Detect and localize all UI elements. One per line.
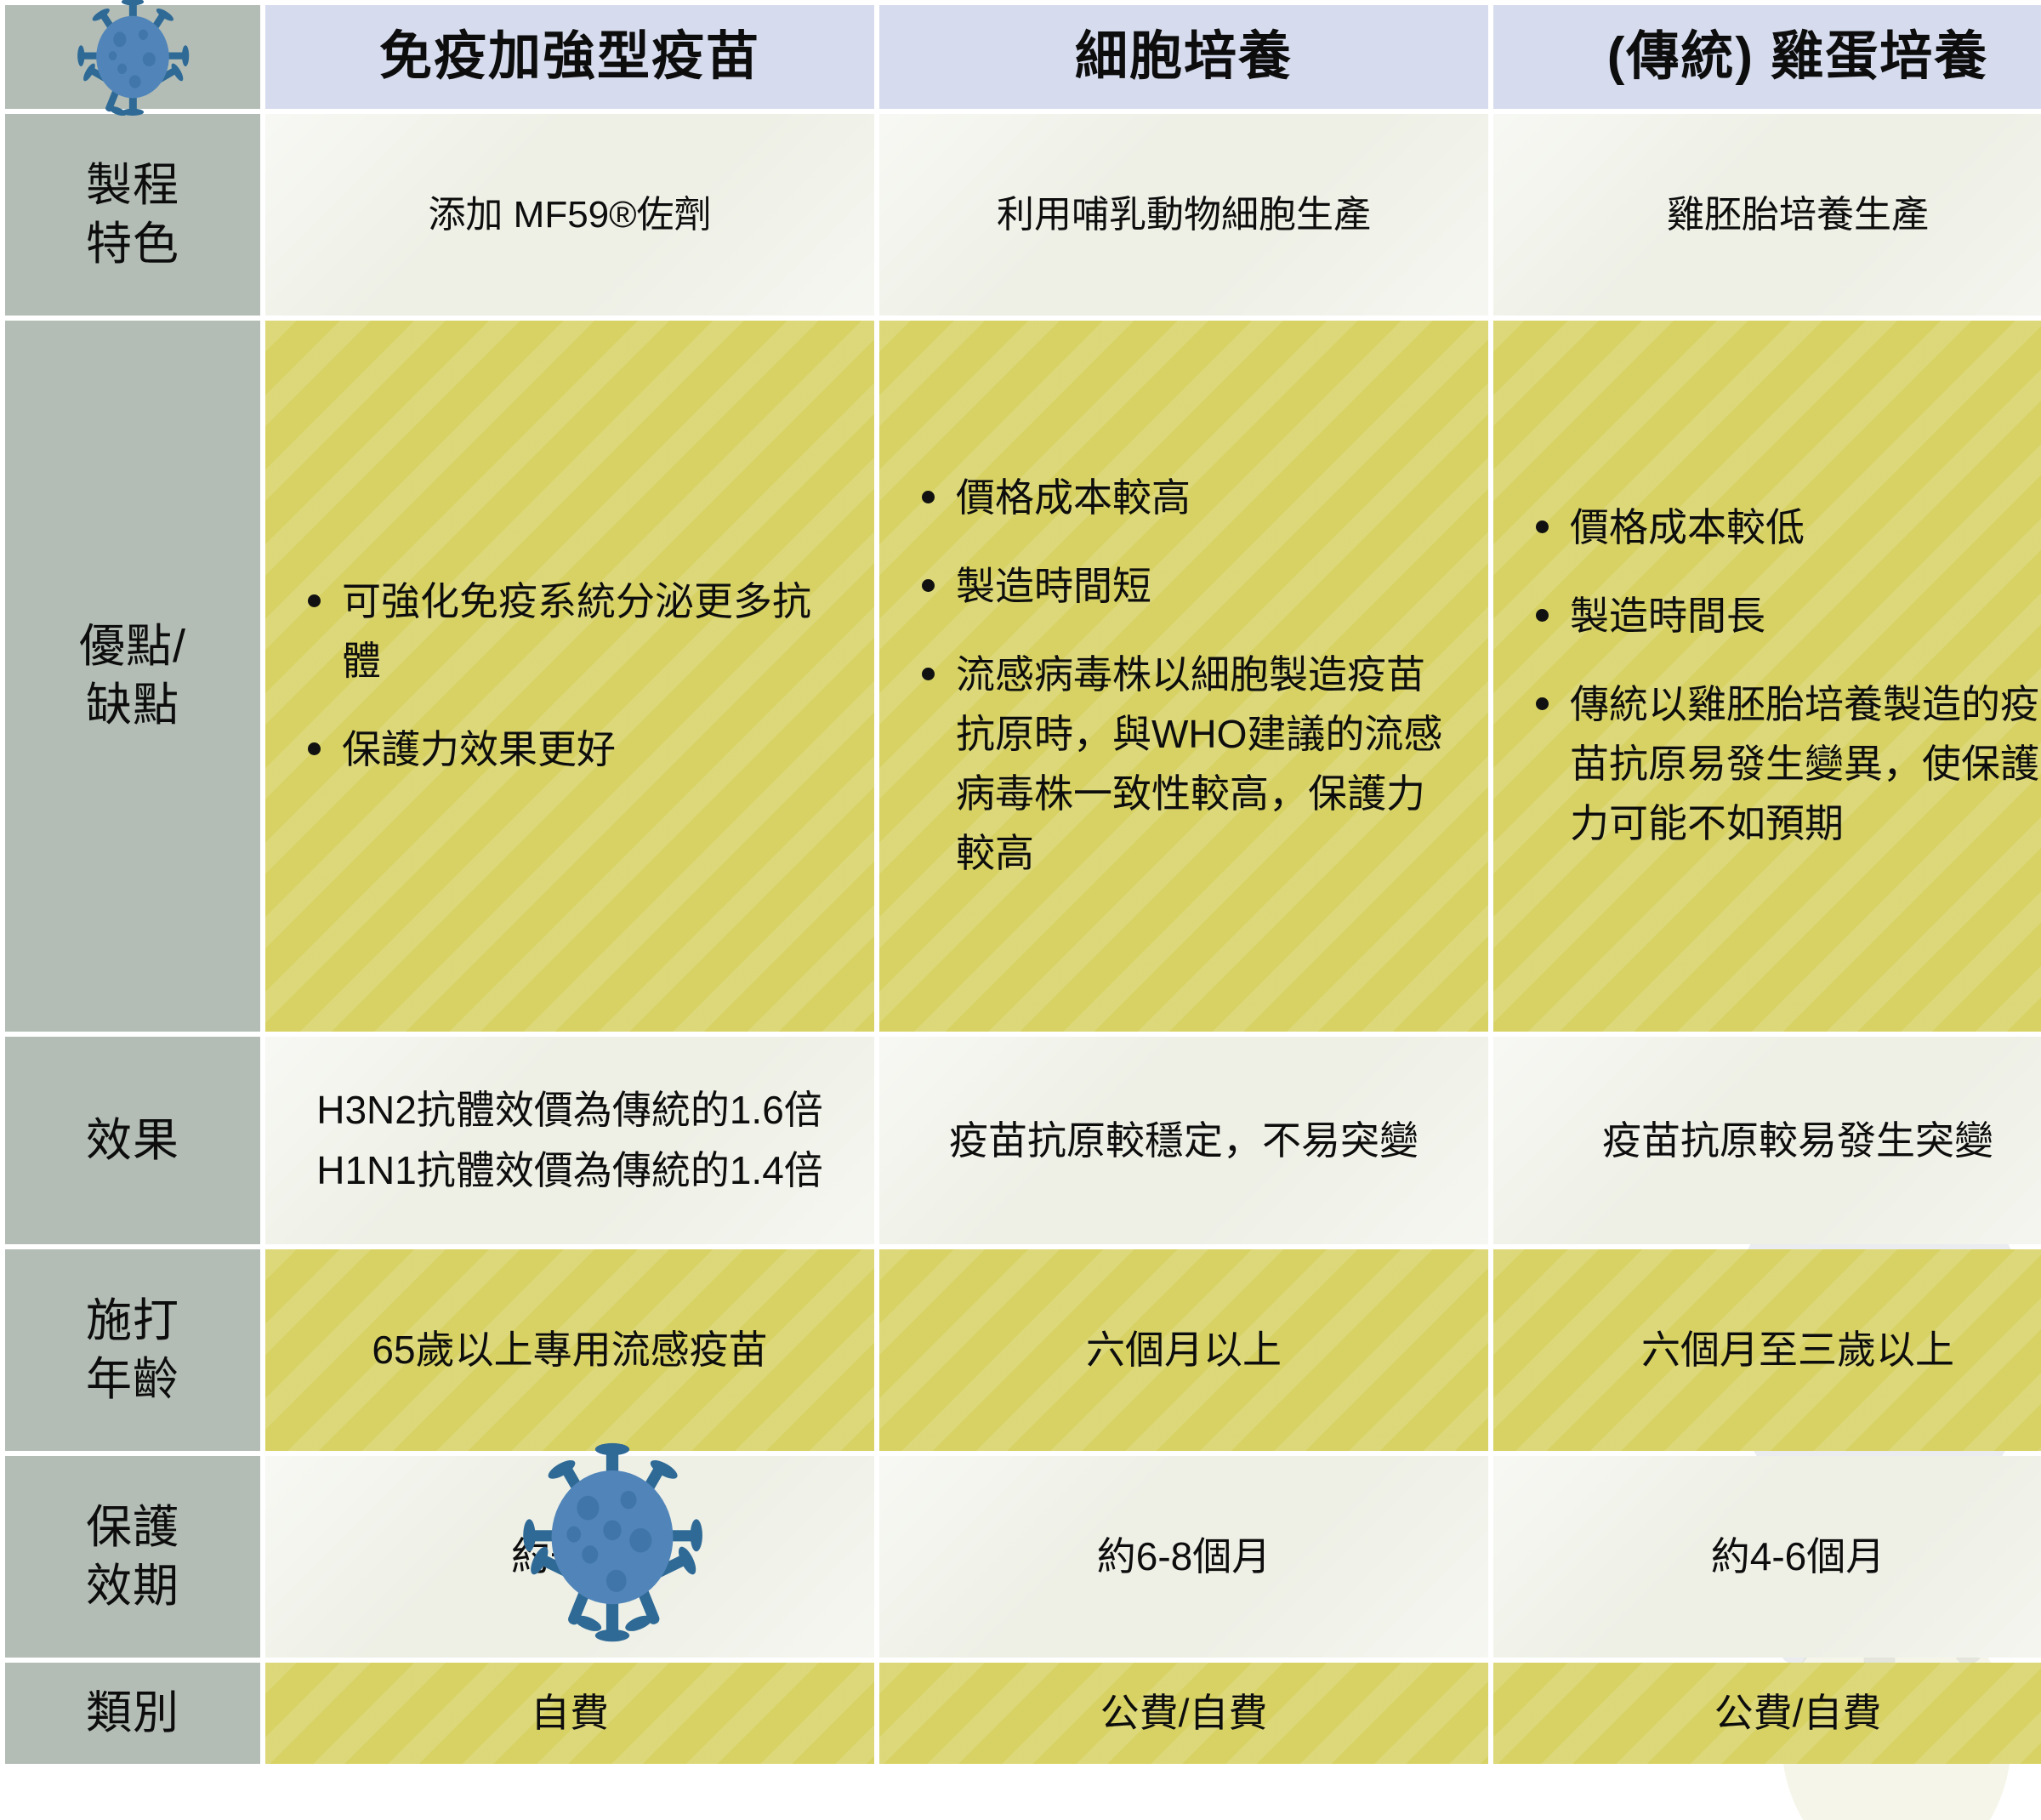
cell-efficacy-cell: 疫苗抗原較穩定，不易突變 [879, 1037, 1488, 1244]
row-label-line: 製程 [86, 160, 179, 211]
efficacy-line: H3N2抗體效價為傳統的1.6倍 [265, 1080, 874, 1140]
list-item: 價格成本較低 [1532, 498, 2041, 558]
table-header-row: 免疫加強型疫苗 細胞培養 (傳統) 雞蛋培養 [5, 5, 2041, 109]
table-row: 製程 特色 添加 MF59®佐劑 利用哺乳動物細胞生產 雞胚胎培養生產 [5, 114, 2041, 316]
list-item: 製造時間長 [1532, 587, 2041, 646]
cell-efficacy-immune: H3N2抗體效價為傳統的1.6倍 H1N1抗體效價為傳統的1.4倍 [265, 1037, 874, 1244]
table-row: 施打 年齡 65歲以上專用流感疫苗 六個月以上 六個月至三歲以上 [5, 1249, 2041, 1451]
row-label-line: 缺點 [86, 680, 179, 731]
list-item: 製造時間短 [918, 557, 1459, 617]
cell-age-egg: 六個月至三歲以上 [1493, 1249, 2041, 1451]
cell-process-cell: 利用哺乳動物細胞生產 [879, 114, 1488, 316]
virus-icon-center [510, 1433, 714, 1646]
column-header-cell-culture: 細胞培養 [879, 5, 1488, 109]
cell-proscons-cell: 價格成本較高 製造時間短 流感病毒株以細胞製造疫苗抗原時，與WHO建議的流感病毒… [879, 321, 1488, 1032]
cell-duration-cell: 約6-8個月 [879, 1456, 1488, 1658]
table-row: 保護 效期 約一年 約6-8個月 約4-6個月 [5, 1456, 2041, 1658]
list-item: 傳統以雞胚胎培養製造的疫苗抗原易發生變異，使保護力可能不如預期 [1532, 675, 2041, 854]
virus-icon [74, 0, 191, 116]
row-label-line: 保護 [86, 1502, 179, 1553]
cell-proscons-egg: 價格成本較低 製造時間長 傳統以雞胚胎培養製造的疫苗抗原易發生變異，使保護力可能… [1493, 321, 2041, 1032]
table-page: 免疫加強型疫苗 細胞培養 (傳統) 雞蛋培養 製程 特色 添加 MF59®佐劑 … [0, 0, 2041, 1769]
cell-process-egg: 雞胚胎培養生產 [1493, 114, 2041, 316]
corner-cell [5, 5, 260, 109]
cell-duration-egg: 約4-6個月 [1493, 1456, 2041, 1658]
list-item: 保護力效果更好 [304, 720, 845, 780]
cell-category-cell: 公費/自費 [879, 1663, 1488, 1764]
list-item: 可強化免疫系統分泌更多抗體 [304, 572, 845, 691]
cell-age-immune: 65歲以上專用流感疫苗 [265, 1249, 874, 1451]
bullet-list: 價格成本較低 製造時間長 傳統以雞胚胎培養製造的疫苗抗原易發生變異，使保護力可能… [1493, 498, 2041, 854]
row-label-line: 施打 [86, 1295, 179, 1346]
efficacy-line: H1N1抗體效價為傳統的1.4倍 [265, 1140, 874, 1201]
cell-category-immune: 自費 [265, 1663, 874, 1764]
row-label-line: 優點/ [79, 621, 186, 672]
row-label-age: 施打 年齡 [5, 1249, 260, 1451]
list-item: 流感病毒株以細胞製造疫苗抗原時，與WHO建議的流感病毒株一致性較高，保護力較高 [918, 646, 1459, 884]
table-row: 類別 自費 公費/自費 公費/自費 [5, 1663, 2041, 1764]
row-label-pros-cons: 優點/ 缺點 [5, 321, 260, 1032]
table-row: 效果 H3N2抗體效價為傳統的1.6倍 H1N1抗體效價為傳統的1.4倍 疫苗抗… [5, 1037, 2041, 1244]
bullet-list: 價格成本較高 製造時間短 流感病毒株以細胞製造疫苗抗原時，與WHO建議的流感病毒… [879, 469, 1488, 883]
vaccine-comparison-table: 免疫加強型疫苗 細胞培養 (傳統) 雞蛋培養 製程 特色 添加 MF59®佐劑 … [0, 0, 2041, 1769]
row-label-line: 年齡 [86, 1354, 179, 1405]
list-item: 價格成本較高 [918, 469, 1459, 528]
cell-process-immune: 添加 MF59®佐劑 [265, 114, 874, 316]
column-header-immune-enhanced: 免疫加強型疫苗 [265, 5, 874, 109]
row-label-line: 特色 [86, 219, 179, 270]
row-label-duration: 保護 效期 [5, 1456, 260, 1658]
bullet-list: 可強化免疫系統分泌更多抗體 保護力效果更好 [265, 572, 874, 780]
row-label-efficacy: 效果 [5, 1037, 260, 1244]
efficacy-lines: H3N2抗體效價為傳統的1.6倍 H1N1抗體效價為傳統的1.4倍 [265, 1080, 874, 1202]
cell-proscons-immune: 可強化免疫系統分泌更多抗體 保護力效果更好 [265, 321, 874, 1032]
cell-age-cell: 六個月以上 [879, 1249, 1488, 1451]
row-label-line: 類別 [86, 1687, 179, 1738]
cell-efficacy-egg: 疫苗抗原較易發生突變 [1493, 1037, 2041, 1244]
row-label-line: 效果 [86, 1115, 179, 1166]
table-row: 優點/ 缺點 可強化免疫系統分泌更多抗體 保護力效果更好 價格成本較高 製造時間… [5, 321, 2041, 1032]
row-label-process-feature: 製程 特色 [5, 114, 260, 316]
column-header-egg-culture: (傳統) 雞蛋培養 [1493, 5, 2041, 109]
cell-category-egg: 公費/自費 [1493, 1663, 2041, 1764]
row-label-category: 類別 [5, 1663, 260, 1764]
row-label-line: 效期 [86, 1561, 179, 1612]
